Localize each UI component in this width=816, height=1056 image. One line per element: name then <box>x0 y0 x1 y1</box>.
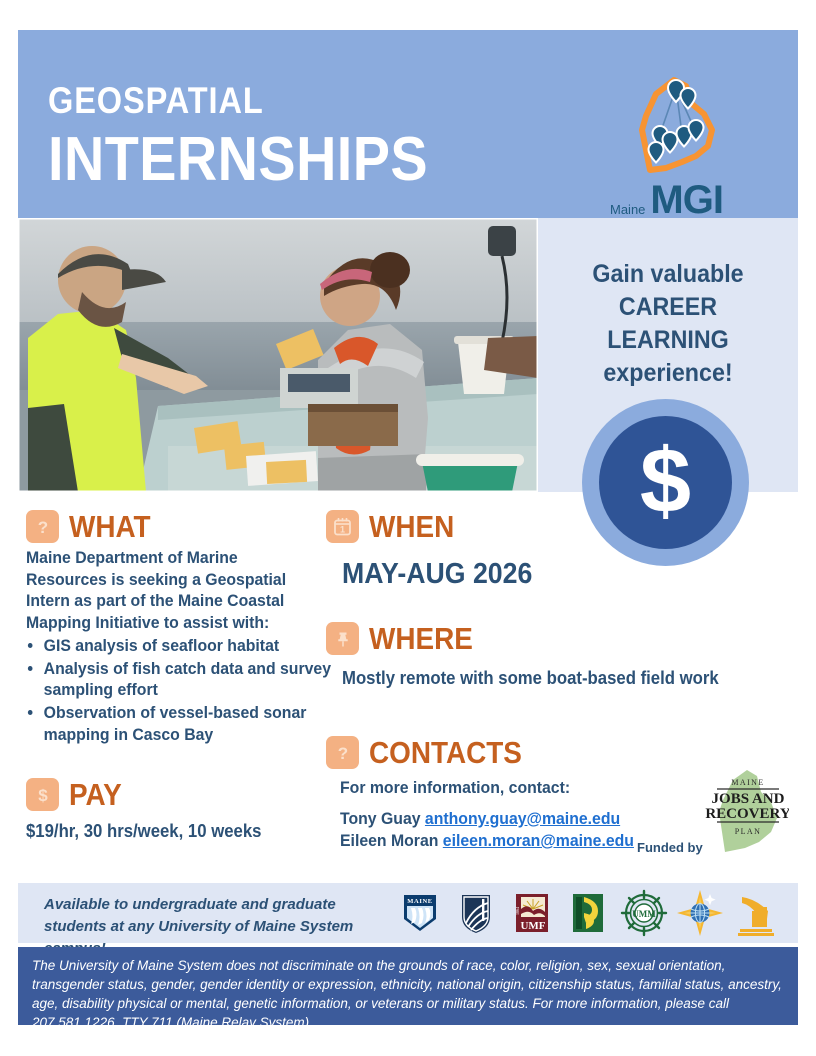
section-what-title: WHAT <box>69 511 151 542</box>
list-item: Observation of vessel-based sonar mappin… <box>44 702 332 745</box>
section-where-header: WHERE <box>326 622 786 655</box>
section-when-title: WHEN <box>369 511 454 542</box>
poster: GEOSPATIAL INTERNSHIPS <box>0 0 816 1056</box>
jobs-logo-mid2: RECOVERY <box>705 806 789 822</box>
map-pin-icon <box>326 622 359 655</box>
funded-by-label: Funded by <box>637 840 703 855</box>
section-where-title: WHERE <box>369 623 473 654</box>
list-item: Analysis of fish catch data and survey s… <box>44 658 332 701</box>
umfk-logo <box>564 889 612 937</box>
tagline-line-1: Gain valuable <box>556 258 779 291</box>
tagline: Gain valuable CAREER LEARNING experience… <box>556 258 779 390</box>
page-title: GEOSPATIAL INTERNSHIPS <box>48 82 470 192</box>
contact-name: Tony Guay <box>340 809 421 828</box>
contact-name: Eileen Moran <box>340 831 438 850</box>
svg-text:UMM: UMM <box>632 909 656 919</box>
title-line-2: INTERNSHIPS <box>48 127 428 192</box>
section-pay-value: $19/hr, 30 hrs/week, 10 weeks <box>26 820 305 843</box>
section-contacts: ? CONTACTS For more information, contact… <box>326 736 666 852</box>
section-what-paragraph: Maine Department of Marine Resources is … <box>26 547 314 633</box>
photo-illustration <box>18 218 538 492</box>
section-where: WHERE Mostly remote with some boat-based… <box>326 622 786 690</box>
section-what-header: ? WHAT <box>26 510 326 543</box>
list-item: GIS analysis of seafloor habitat <box>44 635 332 657</box>
svg-text:?: ? <box>337 744 347 763</box>
tagline-line-3: experience! <box>556 357 779 390</box>
section-pay-title: PAY <box>69 779 122 810</box>
contact-row: Eileen Moran eileen.moran@maine.edu <box>340 830 643 852</box>
dollar-sign-icon: $ <box>26 778 59 811</box>
maine-jobs-recovery-logo: MAINE JOBS AND RECOVERY PLAN <box>697 766 789 854</box>
section-when-header: 1 WHEN <box>326 510 746 543</box>
section-contacts-intro: For more information, contact: <box>340 777 643 799</box>
jobs-logo-bottom: PLAN <box>735 827 762 836</box>
contact-row: Tony Guay anthony.guay@maine.edu <box>340 808 643 830</box>
umm-wheel-logo: UMM <box>620 889 668 937</box>
question-mark-icon: ? <box>326 736 359 769</box>
mgi-abbr-label: MGI <box>650 183 723 217</box>
section-what: ? WHAT Maine Department of Marine Resour… <box>26 510 326 745</box>
section-contacts-title: CONTACTS <box>369 737 522 768</box>
svg-text:1: 1 <box>340 525 345 535</box>
contact-email-link[interactable]: eileen.moran@maine.edu <box>443 831 634 850</box>
calendar-icon: 1 <box>326 510 359 543</box>
section-contacts-header: ? CONTACTS <box>326 736 666 769</box>
jobs-recovery-mark: MAINE JOBS AND RECOVERY PLAN <box>697 766 789 854</box>
mgi-maine-label: Maine <box>610 203 645 217</box>
mgi-logo: Maine MGI Geospatial Institute <box>608 74 758 234</box>
section-when: 1 WHEN MAY-AUG 2026 <box>326 510 746 589</box>
section-what-bullets: GIS analysis of seafloor habitat Analysi… <box>26 635 332 745</box>
uma-shield-logo <box>452 889 500 937</box>
contact-email-link[interactable]: anthony.guay@maine.edu <box>425 809 620 828</box>
maine-outline-icon <box>616 74 736 184</box>
svg-text:$: $ <box>38 786 48 805</box>
section-where-value: Mostly remote with some boat-based field… <box>342 667 755 690</box>
campus-logos-row: MAINE UMF 1864 <box>396 888 780 938</box>
field-work-photo <box>18 218 538 492</box>
jobs-logo-mid1: JOBS AND <box>712 791 785 807</box>
usm-compass-logo <box>676 889 724 937</box>
svg-text:?: ? <box>37 518 47 537</box>
svg-text:UMF: UMF <box>520 920 545 932</box>
tagline-line-2: CAREER LEARNING <box>556 291 779 357</box>
umaine-shield-logo: MAINE <box>396 889 444 937</box>
section-pay: $ PAY $19/hr, 30 hrs/week, 10 weeks <box>26 778 326 843</box>
svg-text:MAINE: MAINE <box>407 898 432 905</box>
section-pay-header: $ PAY <box>26 778 326 811</box>
jobs-logo-top: MAINE <box>731 778 764 787</box>
umpi-columns-logo <box>732 889 780 937</box>
section-when-value: MAY-AUG 2026 <box>342 560 714 589</box>
svg-text:1864: 1864 <box>515 907 520 915</box>
umf-crest-logo: UMF 1864 <box>508 889 556 937</box>
question-mark-icon: ? <box>26 510 59 543</box>
header-banner: GEOSPATIAL INTERNSHIPS <box>18 30 798 218</box>
disclaimer-text: The University of Maine System does not … <box>32 956 784 1033</box>
title-line-1: GEOSPATIAL <box>48 82 420 119</box>
